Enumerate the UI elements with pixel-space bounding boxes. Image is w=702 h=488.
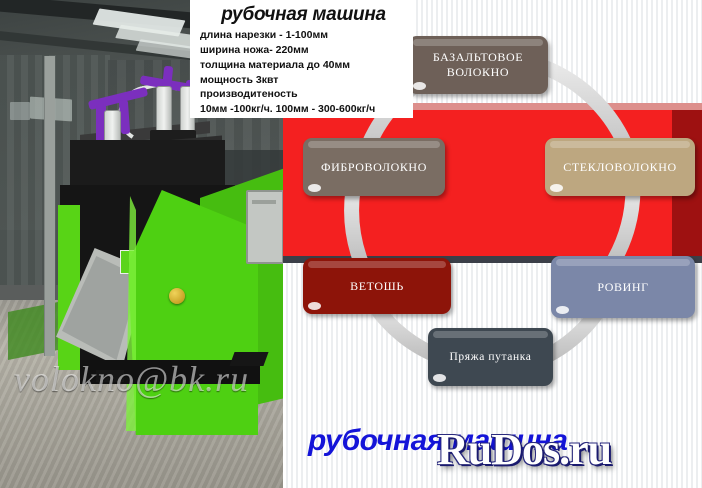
node-vetosh-label: ВЕТОШЬ xyxy=(350,279,404,294)
control-box xyxy=(246,190,283,264)
node-highlight xyxy=(413,39,543,46)
node-highlight xyxy=(433,331,548,338)
node-steklo[interactable]: СТЕКЛОВОЛОКНО xyxy=(545,138,695,196)
spec-line-thickness: толщина материала до 40мм xyxy=(200,59,407,73)
node-highlight xyxy=(308,261,446,268)
machine-foot xyxy=(229,352,268,366)
node-basalt-label: БАЗАЛЬТОВОЕ ВОЛОКНО xyxy=(416,50,540,80)
node-steklo-label: СТЕКЛОВОЛОКНО xyxy=(563,160,677,175)
node-basalt[interactable]: БАЗАЛЬТОВОЕ ВОЛОКНО xyxy=(408,36,548,94)
spec-line-blade-width: ширина ножа- 220мм xyxy=(200,44,407,58)
machine-foot xyxy=(96,370,124,382)
spec-card: рубочная машина длина нарезки - 1-100мм … xyxy=(190,0,413,118)
arc-steklo-to-roving xyxy=(613,190,633,262)
spec-title: рубочная машина xyxy=(200,4,407,26)
spec-line-power: мощность 3квт xyxy=(200,74,407,88)
brass-knob xyxy=(169,288,185,304)
node-highlight xyxy=(550,141,690,148)
spec-line-productivity: производитеность xyxy=(200,88,407,102)
node-highlight xyxy=(308,141,440,148)
window-glow xyxy=(10,102,30,120)
spec-line-cut-length: длина нарезки - 1-100мм xyxy=(200,29,407,43)
node-pryazha[interactable]: Пряжа путанка xyxy=(428,328,553,386)
node-fibro[interactable]: ФИБРОВОЛОКНО xyxy=(303,138,445,196)
node-fibro-label: ФИБРОВОЛОКНО xyxy=(321,160,427,175)
arc-vetosh-to-fibro xyxy=(352,190,361,262)
node-vetosh[interactable]: ВЕТОШЬ xyxy=(303,258,451,314)
node-pryazha-label: Пряжа путанка xyxy=(450,350,532,364)
image-root: volokno@bk.ru xyxy=(0,0,702,488)
spec-line-rates: 10мм -100кг/ч. 100мм - 300-600кг/ч xyxy=(200,103,407,117)
node-roving[interactable]: РОВИНГ xyxy=(551,256,695,318)
node-highlight xyxy=(556,259,690,266)
support-post xyxy=(44,56,55,356)
green-front-panel xyxy=(128,190,258,435)
node-roving-label: РОВИНГ xyxy=(597,280,648,295)
diagram-caption: рубочная машина xyxy=(308,424,702,480)
